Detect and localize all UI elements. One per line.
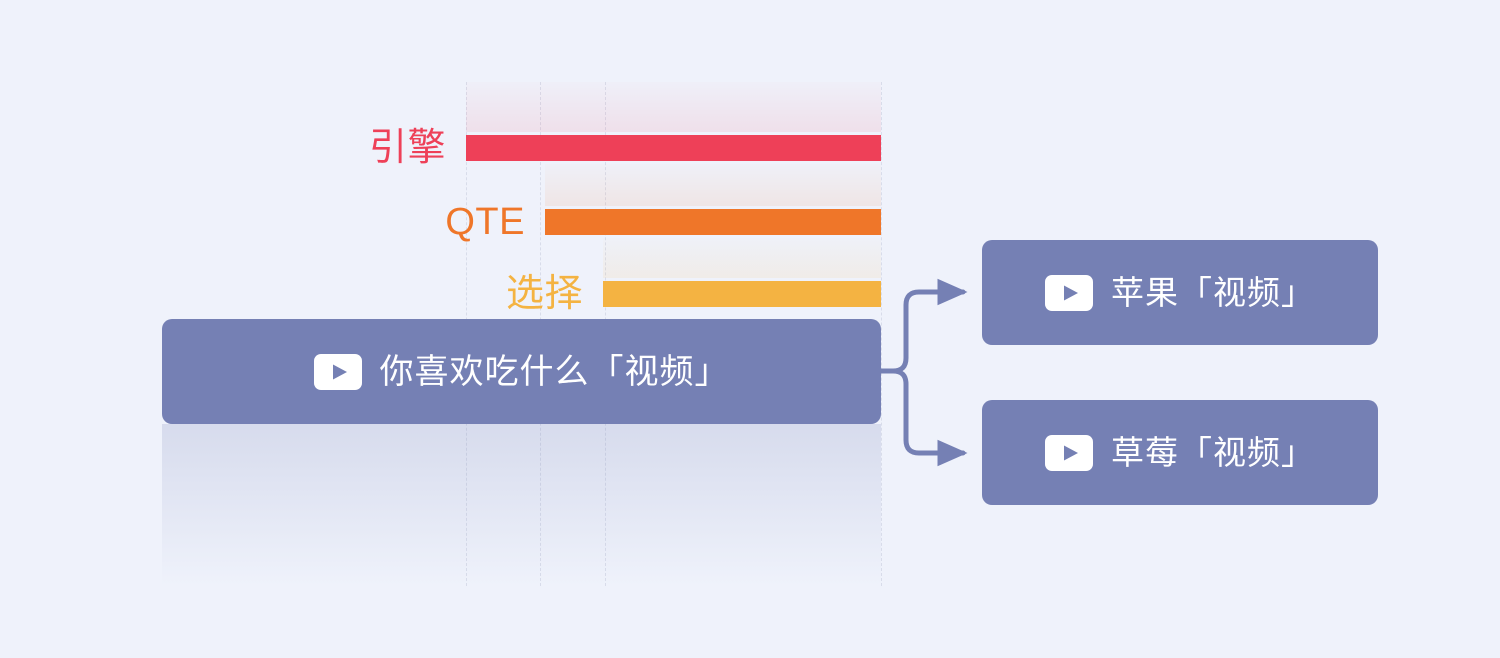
track-glow-qte bbox=[545, 164, 881, 206]
video-node-apple-label: 苹果「视频」 bbox=[1111, 276, 1315, 309]
video-node-main[interactable]: 你喜欢吃什么「视频」 bbox=[162, 319, 881, 424]
gridline-4 bbox=[881, 82, 882, 586]
timeline-track-label-engine: 引擎 bbox=[369, 129, 466, 167]
timeline-track-engine[interactable]: 引擎 bbox=[466, 132, 881, 164]
timeline-bar-qte[interactable] bbox=[545, 209, 881, 235]
timeline-bar-engine[interactable] bbox=[466, 135, 881, 161]
play-video-icon bbox=[1045, 435, 1093, 471]
connector-to-strawberry bbox=[881, 371, 963, 453]
main-node-glow bbox=[162, 424, 881, 586]
play-video-icon bbox=[314, 354, 362, 390]
diagram-canvas: 引擎 QTE 选择 你喜欢吃什么「视频」 苹 bbox=[0, 0, 1500, 658]
timeline-track-label-qte: QTE bbox=[445, 203, 545, 241]
timeline-track-label-choice: 选择 bbox=[506, 275, 603, 313]
track-glow-choice bbox=[603, 238, 881, 278]
play-video-icon bbox=[1045, 275, 1093, 311]
track-glow-engine bbox=[466, 82, 881, 132]
timeline-track-qte[interactable]: QTE bbox=[545, 206, 881, 238]
video-node-apple[interactable]: 苹果「视频」 bbox=[982, 240, 1378, 345]
video-node-main-label: 你喜欢吃什么「视频」 bbox=[380, 355, 730, 389]
connector-to-apple bbox=[881, 292, 963, 371]
video-node-strawberry[interactable]: 草莓「视频」 bbox=[982, 400, 1378, 505]
video-node-strawberry-label: 草莓「视频」 bbox=[1111, 436, 1315, 469]
timeline-bar-choice[interactable] bbox=[603, 281, 881, 307]
timeline-track-choice[interactable]: 选择 bbox=[603, 278, 881, 310]
